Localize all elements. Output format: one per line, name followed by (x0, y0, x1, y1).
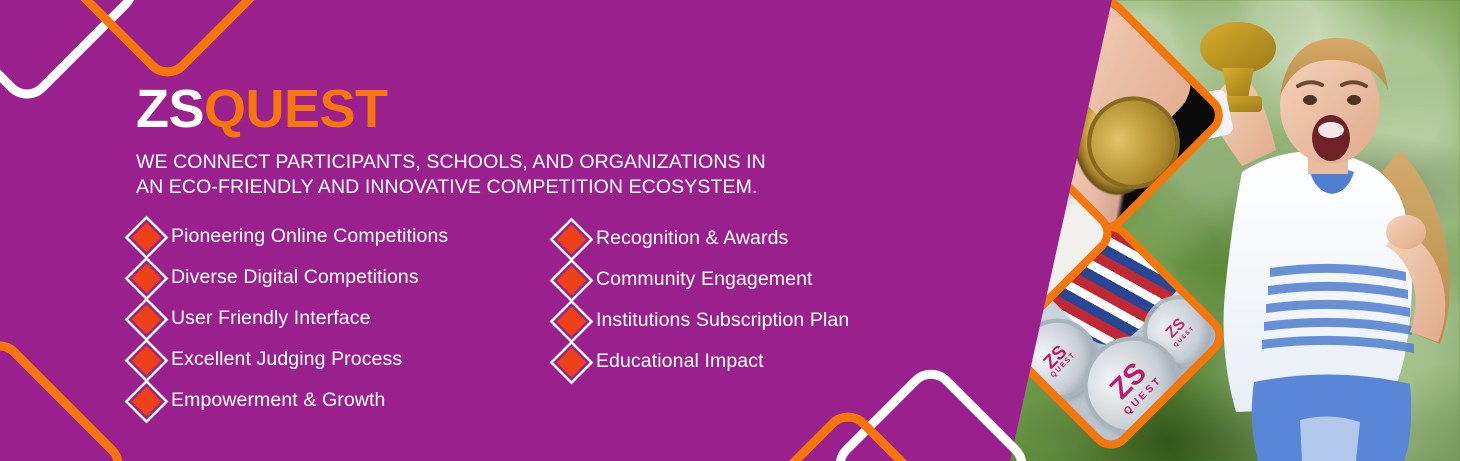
feature-label: Diverse Digital Competitions (171, 268, 419, 288)
diamond-bullet-icon (557, 347, 587, 377)
banner-tagline: WE CONNECT PARTICIPANTS, SCHOOLS, AND OR… (136, 150, 936, 201)
feature-item: User Friendly Interface (136, 299, 521, 340)
feature-item: Community Engagement (561, 260, 936, 301)
feature-item: Empowerment & Growth (136, 381, 521, 422)
feature-item: Pioneering Online Competitions (136, 217, 521, 258)
medal-logo-mark: ZS QUEST (1102, 354, 1166, 418)
feature-column-right: Recognition & Awards Community Engagemen… (561, 217, 936, 422)
feature-item: Institutions Subscription Plan (561, 301, 936, 342)
feature-label: Educational Impact (596, 352, 764, 372)
diamond-bullet-icon (132, 304, 162, 334)
feature-label: Community Engagement (596, 270, 813, 290)
zsquest-promo-banner: ZS QUEST ZS QUEST ZS QUEST (0, 0, 1460, 461)
feature-lists: Pioneering Online Competitions Diverse D… (136, 217, 936, 422)
diamond-bullet-icon (557, 265, 587, 295)
medal-logo-mark: ZS QUEST (1036, 338, 1077, 379)
zsquest-logo: ZSQUEST (136, 82, 936, 136)
feature-label: Pioneering Online Competitions (171, 227, 448, 247)
medal-logo-mark: ZS QUEST (1162, 314, 1197, 349)
diamond-bullet-icon (132, 345, 162, 375)
diamond-bullet-icon (557, 306, 587, 336)
feature-item: Diverse Digital Competitions (136, 258, 521, 299)
feature-label: User Friendly Interface (171, 309, 371, 329)
girl-with-trophy-photo (1150, 0, 1460, 461)
diamond-bullet-icon (132, 263, 162, 293)
feature-label: Recognition & Awards (596, 229, 788, 249)
diamond-bullet-icon (132, 386, 162, 416)
feature-item: Excellent Judging Process (136, 340, 521, 381)
logo-text-zs: ZS (136, 79, 204, 139)
feature-column-left: Pioneering Online Competitions Diverse D… (136, 217, 521, 422)
diamond-bullet-icon (132, 222, 162, 252)
banner-content: ZSQUEST WE CONNECT PARTICIPANTS, SCHOOLS… (136, 82, 936, 422)
diamond-bullet-icon (557, 224, 587, 254)
feature-item: Recognition & Awards (561, 219, 936, 260)
feature-label: Excellent Judging Process (171, 350, 402, 370)
logo-text-quest: QUEST (204, 79, 388, 139)
feature-label: Institutions Subscription Plan (596, 311, 849, 331)
feature-label: Empowerment & Growth (171, 391, 385, 411)
feature-item: Educational Impact (561, 342, 936, 383)
